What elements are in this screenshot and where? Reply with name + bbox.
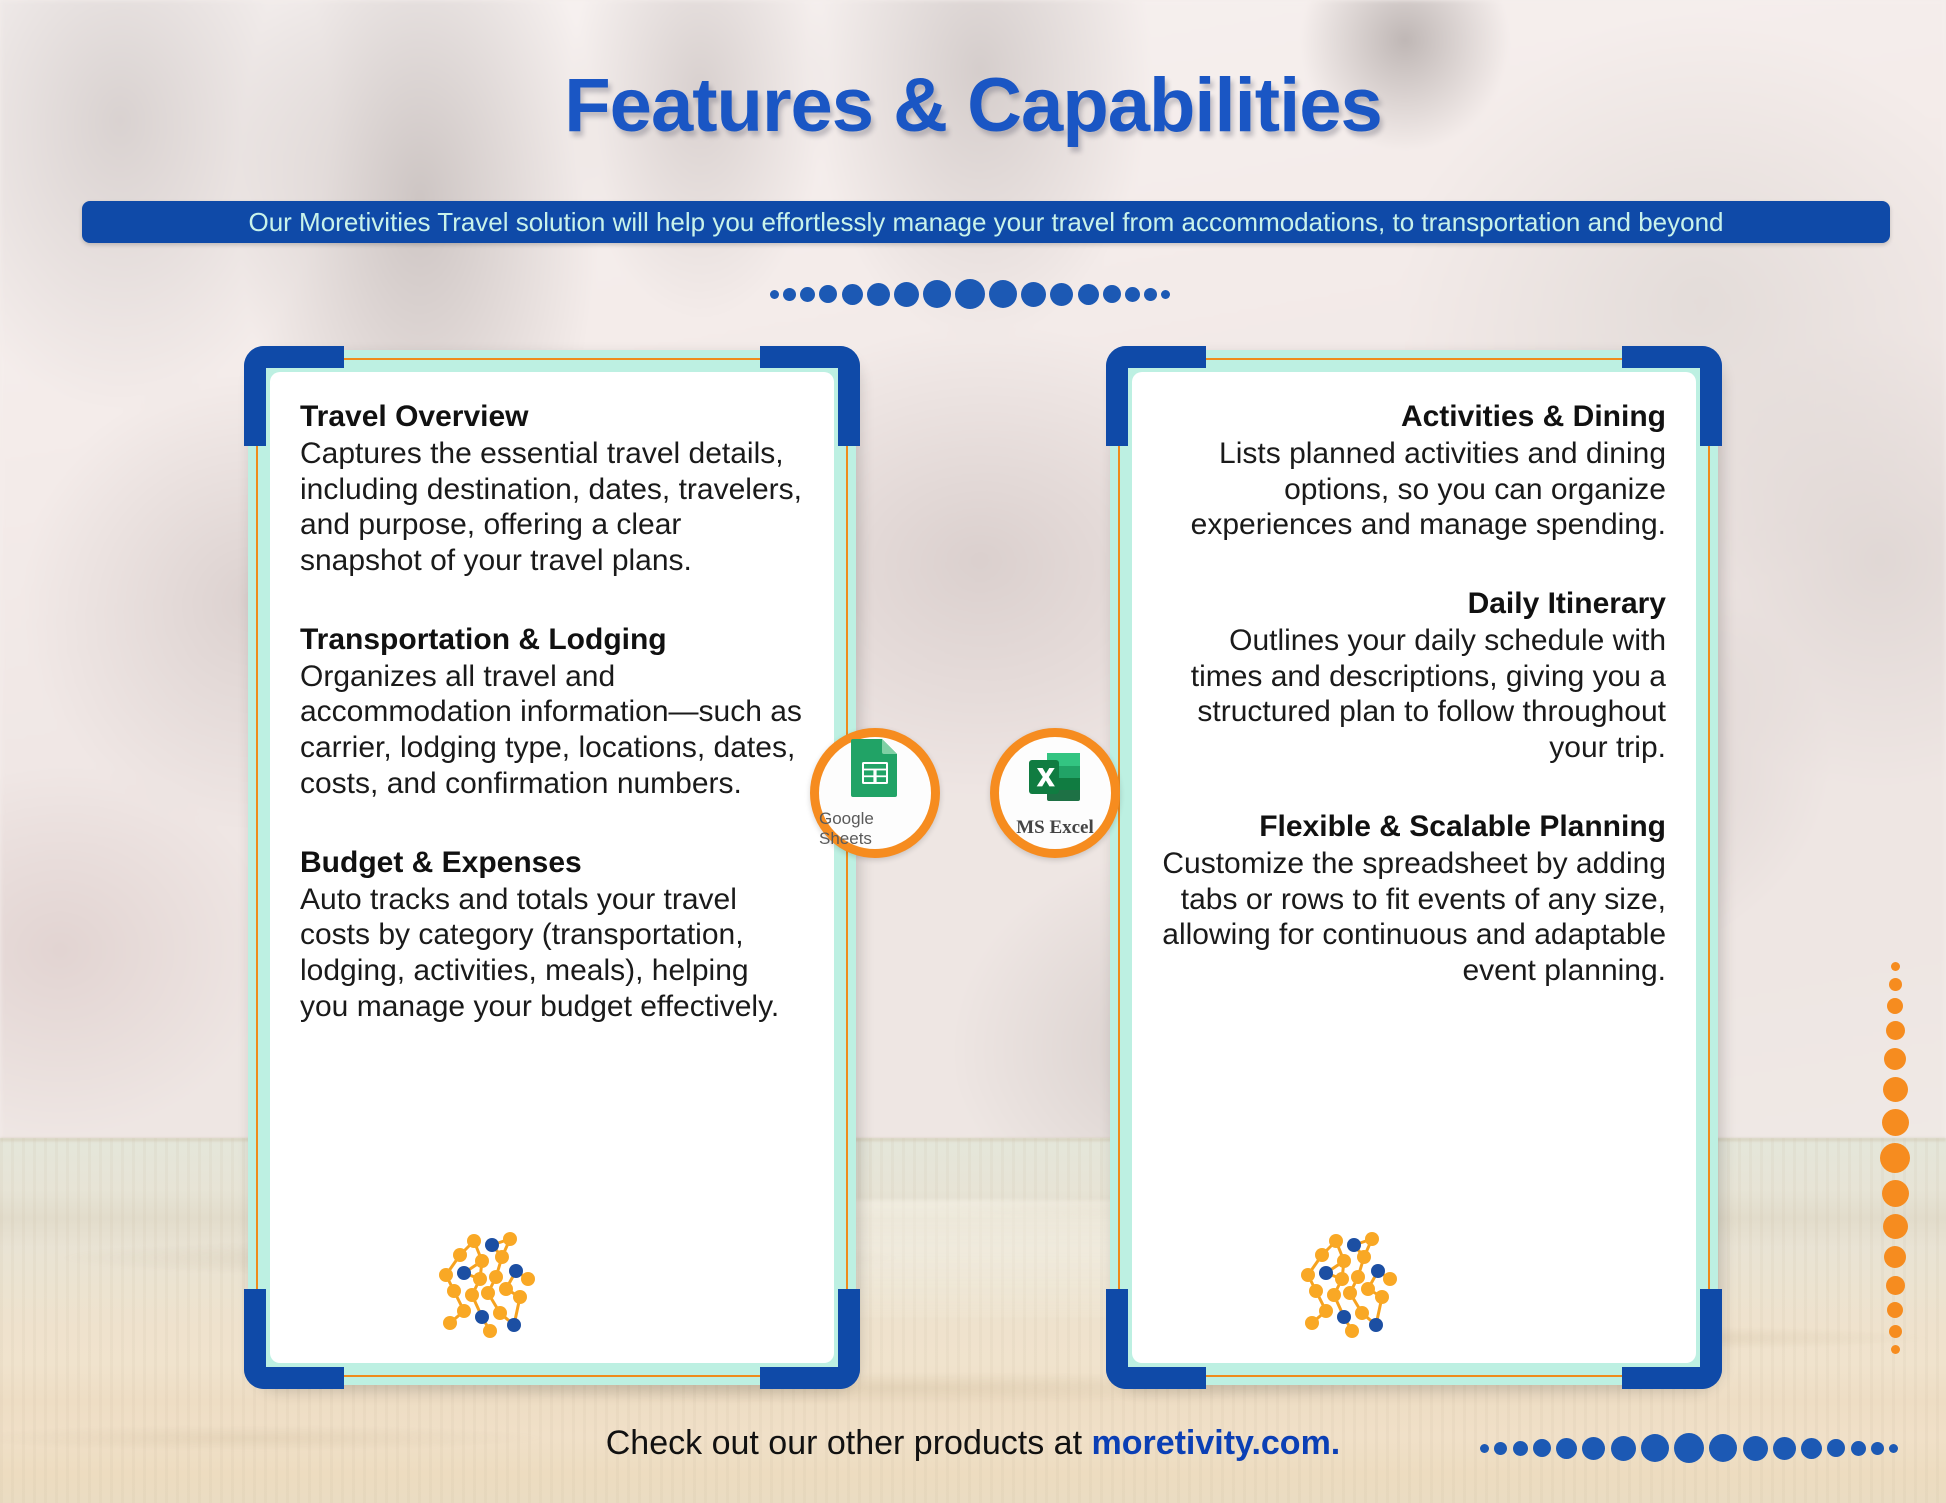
feature-body: Auto tracks and totals your travel costs… bbox=[300, 882, 804, 1025]
right-card-content: Activities & Dining Lists planned activi… bbox=[1132, 372, 1696, 1363]
feature-title: Transportation & Lodging bbox=[300, 623, 804, 657]
subtitle-text: Our Moretivities Travel solution will he… bbox=[248, 207, 1723, 238]
ms-excel-icon bbox=[1025, 747, 1085, 812]
feature-title: Travel Overview bbox=[300, 400, 804, 434]
feature-body: Organizes all travel and accommodation i… bbox=[300, 659, 804, 802]
card-inner-surface: Travel Overview Captures the essential t… bbox=[270, 372, 834, 1363]
footer-link[interactable]: moretivity.com. bbox=[1091, 1424, 1340, 1462]
features-card-right: Activities & Dining Lists planned activi… bbox=[1110, 350, 1718, 1385]
google-sheets-icon bbox=[848, 737, 902, 804]
card-inner-surface: Activities & Dining Lists planned activi… bbox=[1132, 372, 1696, 1363]
footer-text: Check out our other products at bbox=[606, 1424, 1092, 1462]
ms-excel-label: MS Excel bbox=[1016, 817, 1094, 839]
ms-excel-badge[interactable]: MS Excel bbox=[990, 728, 1120, 858]
feature-title: Budget & Expenses bbox=[300, 846, 804, 880]
left-card-content: Travel Overview Captures the essential t… bbox=[270, 372, 834, 1363]
feature-item: Daily Itinerary Outlines your daily sche… bbox=[1162, 587, 1666, 766]
feature-item: Travel Overview Captures the essential t… bbox=[300, 400, 804, 579]
feature-title: Flexible & Scalable Planning bbox=[1162, 810, 1666, 844]
subtitle-banner: Our Moretivities Travel solution will he… bbox=[82, 201, 1890, 243]
feature-item: Activities & Dining Lists planned activi… bbox=[1162, 400, 1666, 543]
feature-body: Outlines your daily schedule with times … bbox=[1162, 623, 1666, 766]
network-cluster-icon bbox=[1292, 1231, 1404, 1343]
google-sheets-badge[interactable]: Google Sheets bbox=[810, 728, 940, 858]
feature-body: Captures the essential travel details, i… bbox=[300, 436, 804, 579]
feature-title: Activities & Dining bbox=[1162, 400, 1666, 434]
network-cluster-icon bbox=[430, 1231, 542, 1343]
feature-body: Lists planned activities and dining opti… bbox=[1162, 436, 1666, 543]
feature-title: Daily Itinerary bbox=[1162, 587, 1666, 621]
feature-item: Flexible & Scalable Planning Customize t… bbox=[1162, 810, 1666, 989]
page-title: Features & Capabilities bbox=[0, 62, 1946, 149]
blue-dot-row-icon bbox=[770, 278, 1170, 310]
google-sheets-label: Google Sheets bbox=[819, 809, 931, 849]
feature-item: Budget & Expenses Auto tracks and totals… bbox=[300, 846, 804, 1025]
feature-body: Customize the spreadsheet by adding tabs… bbox=[1162, 846, 1666, 989]
feature-item: Transportation & Lodging Organizes all t… bbox=[300, 623, 804, 802]
features-card-left: Travel Overview Captures the essential t… bbox=[248, 350, 856, 1385]
orange-dot-column-icon bbox=[1878, 962, 1912, 1354]
footer: Check out our other products at moretivi… bbox=[0, 1424, 1946, 1463]
